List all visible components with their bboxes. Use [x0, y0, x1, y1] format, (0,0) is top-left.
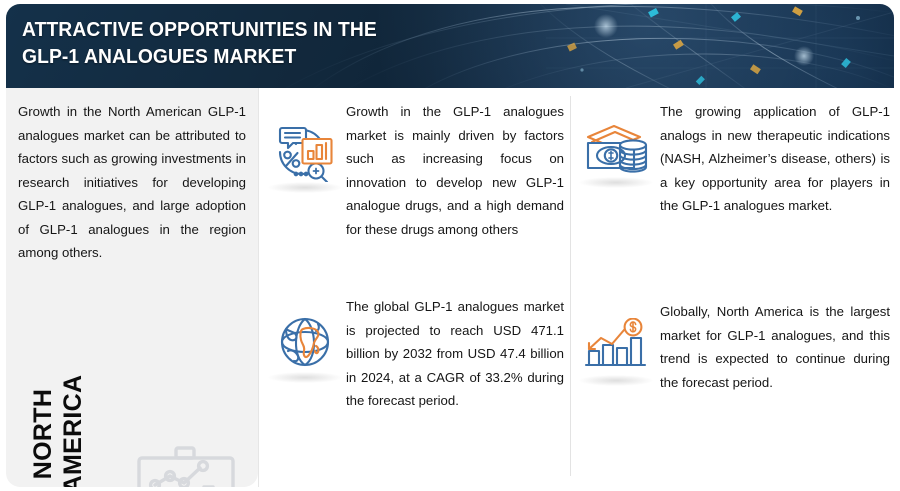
- divider-left: [258, 88, 259, 487]
- header-banner: ATTRACTIVE OPPORTUNITIES IN THE GLP-1 AN…: [6, 4, 894, 88]
- block-drivers: Growth in the GLP-1 analogues market is …: [274, 100, 564, 241]
- north-america-panel: Growth in the North American GLP-1 analo…: [6, 88, 258, 487]
- presentation-chart-magnifier-icon: [126, 440, 246, 487]
- icon-shadow: [268, 182, 342, 193]
- icon-shadow: [268, 372, 342, 383]
- north-america-paragraph: Growth in the North American GLP-1 analo…: [18, 100, 246, 265]
- region-label: NORTH AMERICA: [28, 344, 88, 487]
- block-market-size-text: The global GLP-1 analogues market is pro…: [346, 295, 564, 413]
- icon-shadow: [579, 177, 653, 188]
- infographic-card: ATTRACTIVE OPPORTUNITIES IN THE GLP-1 AN…: [0, 0, 900, 491]
- block-largest-region-text: Globally, North America is the largest m…: [660, 300, 890, 394]
- page-title: ATTRACTIVE OPPORTUNITIES IN THE GLP-1 AN…: [22, 16, 417, 70]
- cash-coins-icon: [584, 120, 648, 178]
- block-largest-region: Globally, North America is the largest m…: [584, 300, 890, 394]
- block-opportunities: The growing application of GLP-1 analogs…: [584, 100, 890, 218]
- market-analysis-percent-icon: [274, 122, 336, 182]
- block-drivers-text: Growth in the GLP-1 analogues market is …: [346, 100, 564, 241]
- block-opportunities-text: The growing application of GLP-1 analogs…: [660, 100, 890, 218]
- globe-icon: [274, 315, 336, 373]
- icon-shadow: [579, 375, 653, 386]
- block-market-size: The global GLP-1 analogues market is pro…: [274, 295, 564, 413]
- growth-bar-chart-dollar-icon: [584, 318, 648, 376]
- content-area: Growth in the North American GLP-1 analo…: [6, 88, 894, 487]
- divider-right: [570, 96, 571, 476]
